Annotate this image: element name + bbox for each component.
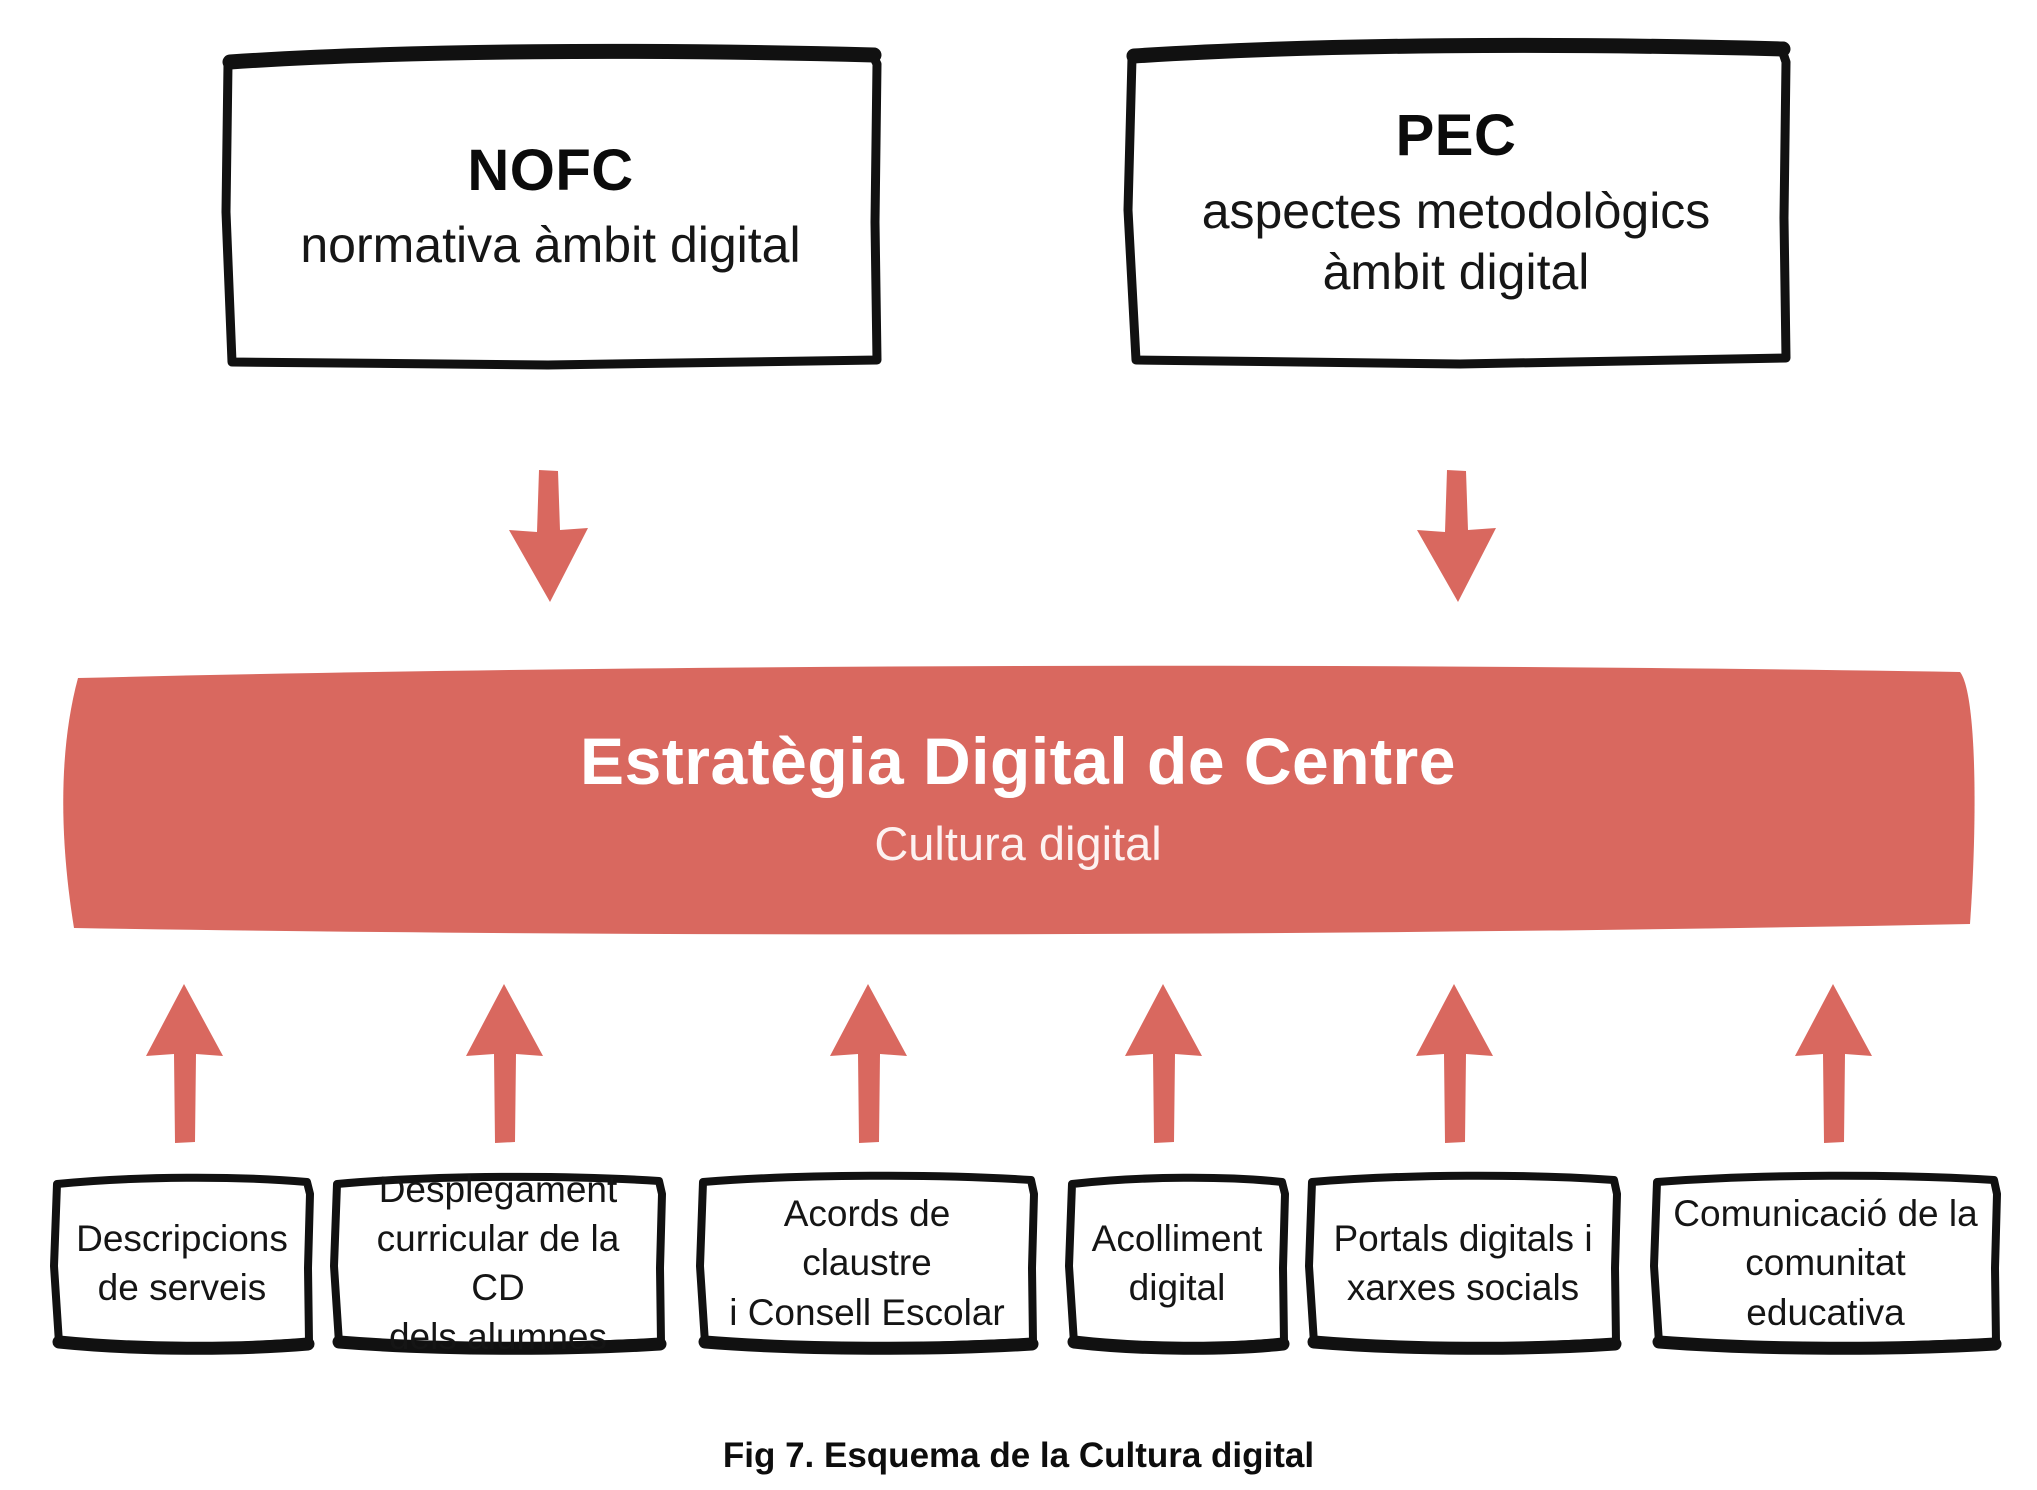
box-nofc-subtitle: normativa àmbit digital [265,215,837,276]
banner-subtitle: Cultura digital [580,818,1456,870]
box-pec-subtitle: aspectes metodològics àmbit digital [1167,181,1745,303]
up-arrow-comunicacio [1787,982,1879,1146]
box-acords-label: Acords de claustre i Consell Escolar [718,1189,1016,1337]
box-descripcions-content: Descripcions de serveis [67,1214,297,1312]
box-acords-content: Acords de claustre i Consell Escolar [718,1189,1016,1337]
banner-content: Estratègia Digital de Centre Cultura dig… [580,727,1456,876]
box-portals-content: Portals digitals i xarxes socials [1325,1214,1600,1312]
box-nofc-title: NOFC [265,141,837,202]
box-desplegament-label: Desplegament curricular de la CD dels al… [352,1165,644,1362]
box-acolliment-content: Acolliment digital [1079,1214,1275,1312]
box-acolliment-digital: Acolliment digital [1063,1172,1291,1354]
box-descripcions-de-serveis: Descripcions de serveis [48,1172,316,1354]
banner-title: Estratègia Digital de Centre [580,727,1456,796]
box-desplegament-curricular: Desplegament curricular de la CD dels al… [328,1172,668,1354]
down-arrow-pec [1408,468,1504,608]
box-pec: PEC aspectes metodològics àmbit digital [1120,38,1792,371]
box-comunicacio-content: Comunicació de la comunitat educativa [1673,1189,1978,1337]
up-arrow-acords [822,982,914,1146]
down-arrow-nofc [500,468,596,608]
diagram-canvas: NOFC normativa àmbit digital PEC aspecte… [0,0,2037,1490]
box-pec-title: PEC [1167,106,1745,167]
up-arrow-acolliment [1117,982,1209,1146]
up-arrow-portals [1408,982,1500,1146]
box-acords-claustre: Acords de claustre i Consell Escolar [694,1172,1040,1354]
box-nofc-content: NOFC normativa àmbit digital [265,141,837,277]
box-comunicacio-label: Comunicació de la comunitat educativa [1673,1189,1978,1337]
box-nofc: NOFC normativa àmbit digital [218,42,883,375]
up-arrow-descripcions [138,982,230,1146]
box-pec-content: PEC aspectes metodològics àmbit digital [1167,106,1745,303]
box-acolliment-label: Acolliment digital [1079,1214,1275,1312]
up-arrow-desplegament [458,982,550,1146]
box-comunicacio-comunitat: Comunicació de la comunitat educativa [1648,1172,2003,1354]
box-portals-label: Portals digitals i xarxes socials [1325,1214,1600,1312]
banner-estrategia-digital: Estratègia Digital de Centre Cultura dig… [52,662,1984,940]
box-portals-digitals: Portals digitals i xarxes socials [1303,1172,1623,1354]
box-descripcions-label: Descripcions de serveis [67,1214,297,1312]
box-desplegament-content: Desplegament curricular de la CD dels al… [352,1165,644,1362]
figure-caption: Fig 7. Esquema de la Cultura digital [0,1436,2037,1476]
